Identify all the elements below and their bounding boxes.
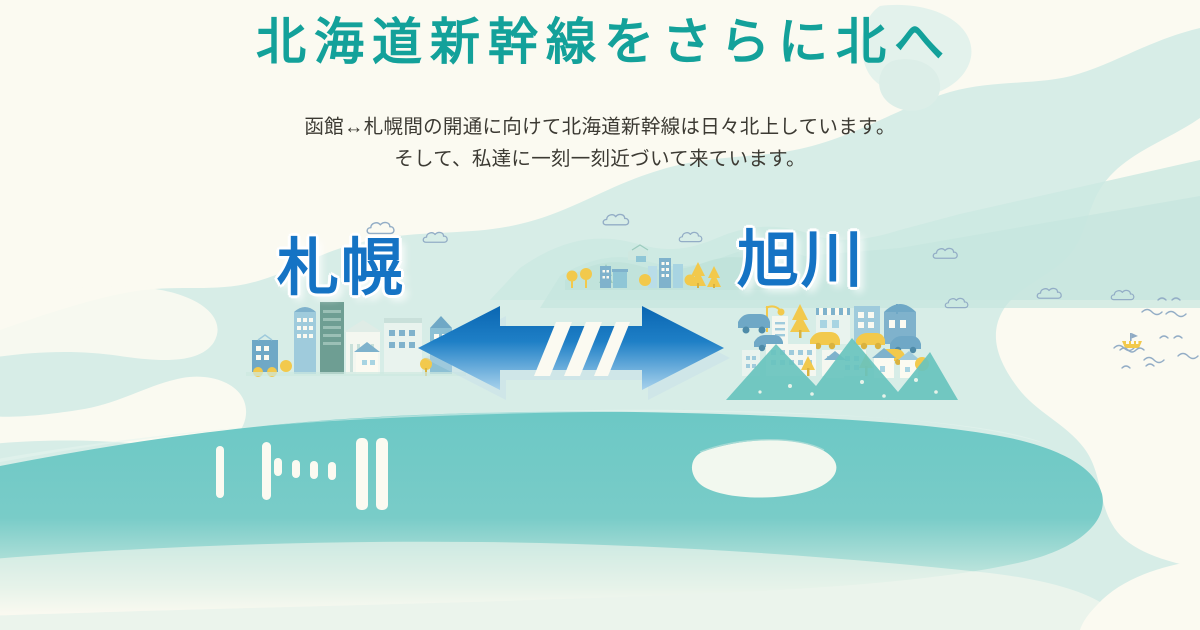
city-label-sapporo: 札幌 bbox=[277, 238, 405, 300]
text-layer: 北海道新幹線をさらに北へ 函館↔札幌間の開通に向けて北海道新幹線は日々北上してい… bbox=[0, 0, 1200, 630]
subtitle: 函館↔札幌間の開通に向けて北海道新幹線は日々北上しています。 そして、私達に一刻… bbox=[0, 112, 1200, 175]
city-label-asahikawa: 旭川 bbox=[737, 230, 865, 292]
page-title: 北海道新幹線をさらに北へ bbox=[0, 14, 1200, 72]
poster-canvas: 北海道新幹線をさらに北へ 函館↔札幌間の開通に向けて北海道新幹線は日々北上してい… bbox=[0, 0, 1200, 630]
subtitle-line-2: そして、私達に一刻一刻近づいて来ています。 bbox=[0, 144, 1200, 176]
subtitle-line-1: 函館↔札幌間の開通に向けて北海道新幹線は日々北上しています。 bbox=[0, 112, 1200, 144]
